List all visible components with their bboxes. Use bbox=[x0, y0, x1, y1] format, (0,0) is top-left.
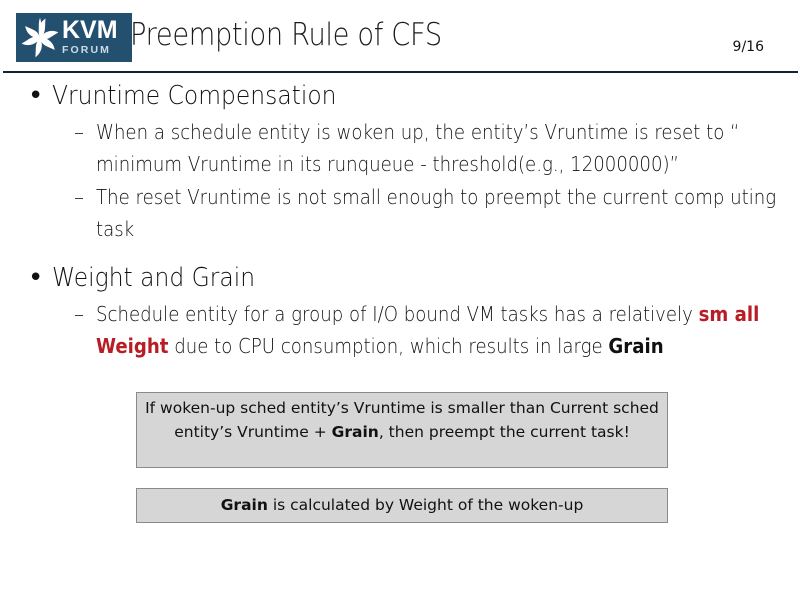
text-run: The reset Vruntime is not small enough t… bbox=[96, 185, 776, 241]
page-title: Preemption Rule of CFS bbox=[130, 17, 442, 53]
slide: KVM FORUM Preemption Rule of CFS 9/16 • … bbox=[0, 0, 800, 600]
bullet-level2: – The reset Vruntime is not small enough… bbox=[0, 181, 800, 245]
callout-text-run-bold: Grain bbox=[221, 496, 268, 514]
text-run-emphasis-bold: Grain bbox=[608, 334, 663, 358]
bullet-marker: • bbox=[28, 260, 43, 296]
bullet-marker: – bbox=[74, 298, 84, 330]
callout-text-run: , then preempt the current task! bbox=[379, 423, 630, 441]
page-number: 9/16 bbox=[733, 39, 764, 55]
slide-header: KVM FORUM Preemption Rule of CFS 9/16 bbox=[0, 0, 800, 74]
logo-wordmark: KVM FORUM bbox=[62, 18, 118, 57]
text-run: Schedule entity for a group of I/O bound… bbox=[96, 302, 699, 326]
slide-body: • Vruntime Compensation – When a schedul… bbox=[0, 78, 800, 363]
text-run: When a schedule entity is woken up, the … bbox=[96, 120, 739, 176]
callout-text-run: is calculated by Weight of the woken-up bbox=[268, 496, 583, 514]
bullet-level2-text: Schedule entity for a group of I/O bound… bbox=[96, 298, 800, 362]
spacer bbox=[0, 246, 800, 260]
bullet-level2: – Schedule entity for a group of I/O bou… bbox=[0, 298, 800, 362]
header-divider bbox=[3, 71, 798, 73]
bullet-level1-label: Vruntime Compensation bbox=[52, 78, 336, 114]
logo-brand: KVM bbox=[62, 18, 118, 43]
bullet-level2-text: The reset Vruntime is not small enough t… bbox=[96, 181, 800, 245]
bullet-level2: – When a schedule entity is woken up, th… bbox=[0, 116, 800, 180]
bullet-level2-text: When a schedule entity is woken up, the … bbox=[96, 116, 800, 180]
callout-text-run-bold: Grain bbox=[332, 423, 379, 441]
bullet-level1: • Vruntime Compensation bbox=[0, 78, 800, 114]
logo-sub-brand: FORUM bbox=[62, 44, 118, 57]
bullet-marker: – bbox=[74, 181, 84, 213]
kvm-forum-logo: KVM FORUM bbox=[16, 13, 132, 62]
grain-definition-box: Grain is calculated by Weight of the wok… bbox=[136, 488, 668, 523]
text-run: due to CPU consumption, which results in… bbox=[168, 334, 608, 358]
bullet-marker: – bbox=[74, 116, 84, 148]
kvm-pinwheel-icon bbox=[17, 15, 63, 61]
bullet-level1-label: Weight and Grain bbox=[52, 260, 255, 296]
preemption-condition-box: If woken-up sched entity’s Vruntime is s… bbox=[136, 392, 668, 468]
bullet-level1: • Weight and Grain bbox=[0, 260, 800, 296]
bullet-marker: • bbox=[28, 78, 43, 114]
